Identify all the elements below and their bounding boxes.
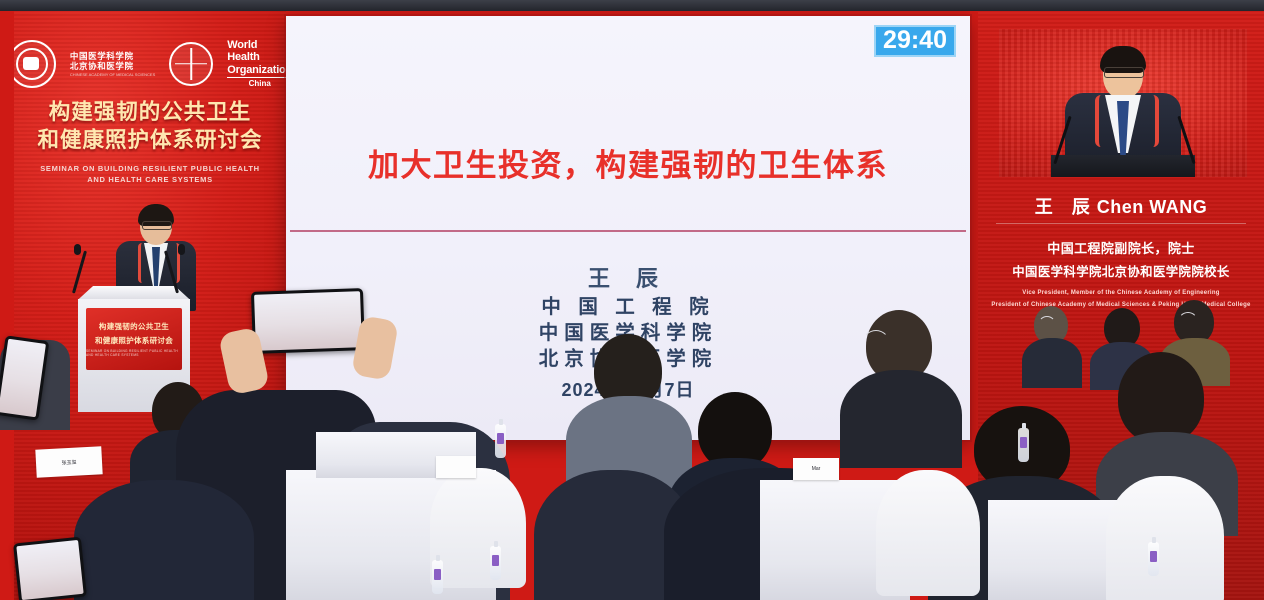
video-lectern [1051, 155, 1195, 177]
lectern-top [70, 286, 198, 300]
who-emblem-icon [169, 42, 213, 86]
slide-affiliation-2: 中国医学科学院 [286, 320, 970, 346]
banner-subtitle-line2: AND HEALTH CARE SYSTEMS [14, 174, 286, 185]
video-speaker-lanyard [1095, 95, 1159, 147]
panel-speaker-name: 王 辰Chen WANG [978, 193, 1264, 219]
cams-name-en: CHINESE ACADEMY OF MEDICAL SCIENCES [70, 72, 155, 77]
speaker-glasses-icon [142, 221, 172, 230]
panel-divider [996, 223, 1246, 224]
banner-subtitle-line1: SEMINAR ON BUILDING RESILIENT PUBLIC HEA… [14, 163, 286, 174]
lectern-sign-line2: 和健康照护体系研讨会 [95, 335, 173, 346]
banner-title-line1: 构建强韧的公共卫生 [14, 99, 286, 127]
slide-divider [290, 230, 966, 232]
slide-speaker-name: 王 辰 [286, 261, 970, 293]
speaker-video-feed [999, 29, 1247, 177]
who-line3: China [227, 80, 286, 89]
cams-pumc-logo-text: 中国医学科学院 北京协和医学院 CHINESE ACADEMY OF MEDIC… [70, 51, 155, 77]
who-line2: Organization [227, 64, 286, 78]
who-logo-text: World Health Organization China [227, 39, 286, 89]
pumc-name-cn: 北京协和医学院 [70, 61, 155, 72]
who-line1: World Health [227, 39, 286, 64]
countdown-timer: 29:40 [874, 25, 956, 57]
slide-affiliations: 中 国 工 程 院 中国医学科学院 北京协和医学院 [286, 294, 970, 372]
panel-title-cn-2: 中国医学科学院北京协和医学院院校长 [978, 261, 1264, 284]
panel-name-en: Chen WANG [1097, 197, 1208, 217]
projection-screen: 29:40 加大卫生投资，构建强韧的卫生体系 王 辰 中 国 工 程 院 中国医… [286, 16, 970, 440]
panel-title-en-1: Vice President, Member of the Chinese Ac… [978, 287, 1264, 299]
lectern-sign-line1: 构建强韧的公共卫生 [99, 321, 169, 332]
ceiling-strip [0, 0, 1264, 11]
slide-affiliation-3: 北京协和医学院 [286, 346, 970, 372]
mic-head-left [74, 244, 81, 255]
panel-title-en-2: President of Chinese Academy of Medical … [978, 299, 1264, 311]
lectern-sign-sub: SEMINAR ON BUILDING RESILIENT PUBLIC HEA… [86, 349, 182, 357]
video-speaker-glasses-icon [1104, 67, 1144, 78]
slide-title: 加大卫生投资，构建强韧的卫生体系 [286, 140, 970, 185]
cams-name-cn: 中国医学科学院 [70, 51, 155, 62]
slide-affiliation-1: 中 国 工 程 院 [286, 294, 970, 320]
lectern: 构建强韧的公共卫生 和健康照护体系研讨会 SEMINAR ON BUILDING… [70, 286, 198, 412]
banner-logo-row: 中国医学科学院 北京协和医学院 CHINESE ACADEMY OF MEDIC… [14, 39, 286, 89]
photo-scene: 中国医学科学院 北京协和医学院 CHINESE ACADEMY OF MEDIC… [0, 0, 1264, 600]
panel-name-cn: 王 辰 [1035, 197, 1097, 217]
slide-date: 2024年11月7日 [286, 376, 970, 402]
panel-titles-en: Vice President, Member of the Chinese Ac… [978, 287, 1264, 312]
cams-pumc-seal-icon [14, 40, 56, 88]
panel-title-cn-1: 中国工程院副院长，院士 [978, 237, 1264, 261]
banner-title: 构建强韧的公共卫生 和健康照护体系研讨会 [14, 99, 286, 154]
lectern-sign: 构建强韧的公共卫生 和健康照护体系研讨会 SEMINAR ON BUILDING… [86, 308, 182, 370]
right-speaker-panel: 王 辰Chen WANG 中国工程院副院长，院士 中国医学科学院北京协和医学院院… [978, 11, 1264, 600]
panel-titles-cn: 中国工程院副院长，院士 中国医学科学院北京协和医学院院校长 [978, 237, 1264, 284]
mic-head-right [178, 244, 185, 255]
banner-subtitle: SEMINAR ON BUILDING RESILIENT PUBLIC HEA… [14, 163, 286, 186]
banner-title-line2: 和健康照护体系研讨会 [14, 127, 286, 155]
